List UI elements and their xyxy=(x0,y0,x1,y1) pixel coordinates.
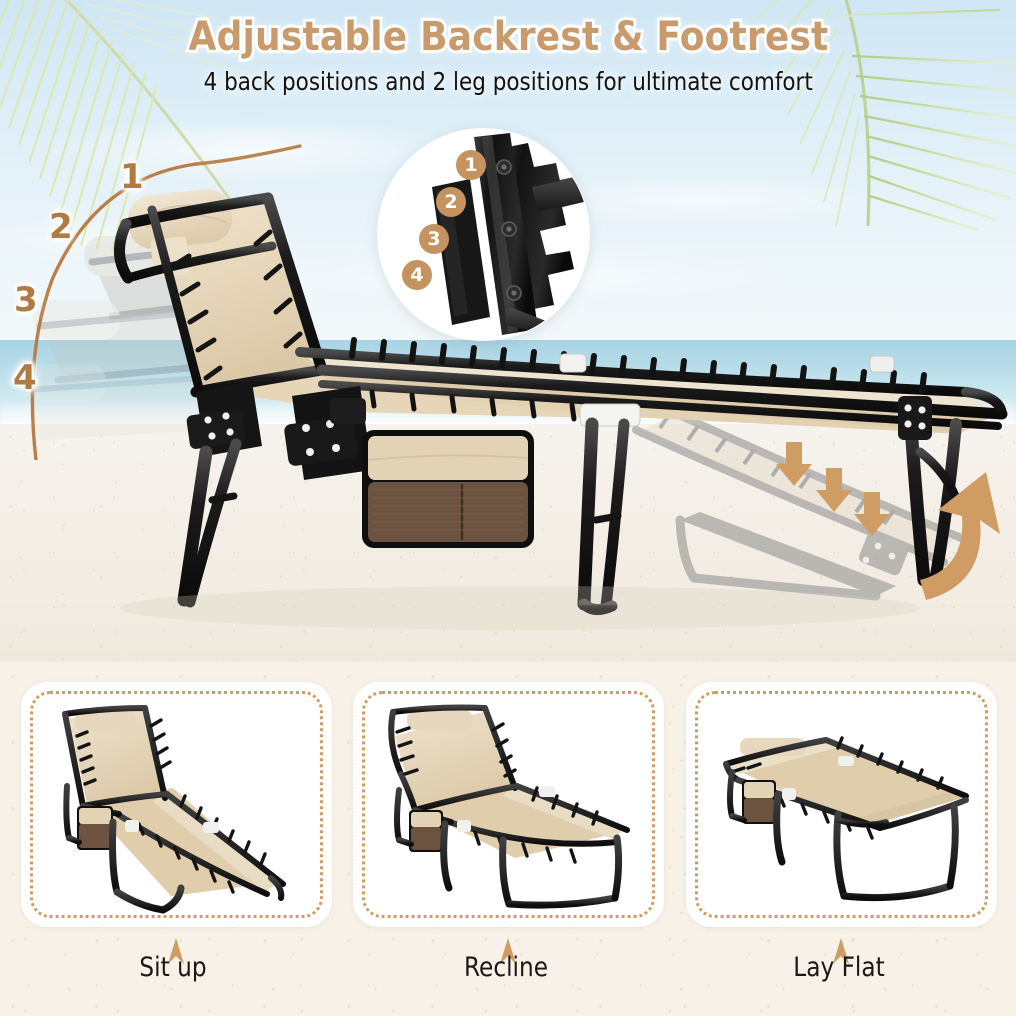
mode-label-sit-up: Sit up xyxy=(113,952,233,983)
backrest-position-1: 1 xyxy=(120,157,144,197)
chair-recline-illustration xyxy=(353,682,664,927)
infographic-canvas: Adjustable Backrest & Footrest 4 back po… xyxy=(0,0,1016,1016)
mode-label-lay-flat: Lay Flat xyxy=(779,952,899,983)
mode-panels-section: Sit up Recline Lay Flat xyxy=(0,662,1016,1016)
chair-sit-up-illustration xyxy=(21,682,332,927)
hero-beach-scene: Adjustable Backrest & Footrest 4 back po… xyxy=(0,0,1016,662)
notch-badge-4: 4 xyxy=(402,260,432,290)
mode-panel-lay-flat xyxy=(686,682,997,927)
page-title: Adjustable Backrest & Footrest xyxy=(188,14,828,60)
notch-badge-1: 1 xyxy=(456,150,486,180)
header: Adjustable Backrest & Footrest 4 back po… xyxy=(0,14,1016,96)
mode-panel-sit-up xyxy=(21,682,332,927)
notch-badge-2: 2 xyxy=(436,187,466,217)
backrest-position-2: 2 xyxy=(49,207,73,247)
notch-badge-3: 3 xyxy=(419,224,449,254)
mode-panel-recline xyxy=(353,682,664,927)
backrest-position-4: 4 xyxy=(13,358,37,398)
position-arc xyxy=(0,130,330,460)
backrest-position-3: 3 xyxy=(14,280,38,320)
chair-lay-flat-illustration xyxy=(686,682,997,927)
notch-bracket-callout: 1 2 3 4 xyxy=(378,129,589,340)
mode-label-recline: Recline xyxy=(446,952,566,983)
page-subtitle: 4 back positions and 2 leg positions for… xyxy=(203,67,812,96)
